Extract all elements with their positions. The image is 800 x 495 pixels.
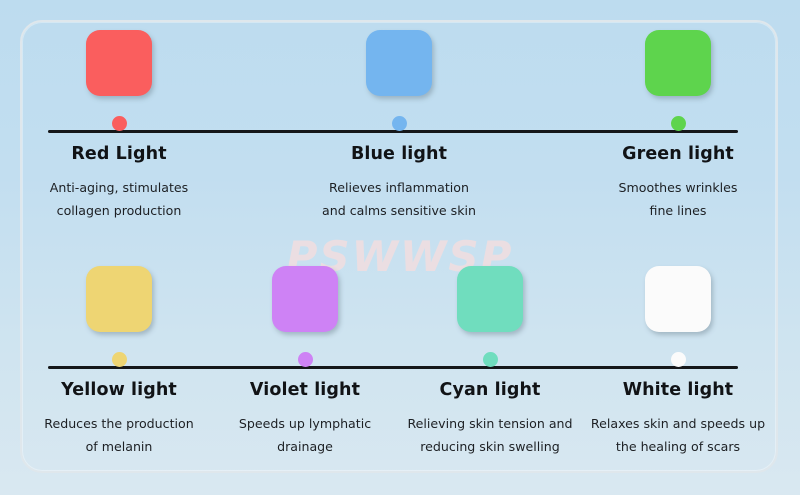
desc-line-2: the healing of scars (563, 435, 793, 458)
timeline-dot-white[interactable] (671, 352, 686, 367)
color-swatch-white (645, 266, 711, 332)
desc-line-1: Relaxes skin and speeds up (563, 412, 793, 435)
color-swatch-violet (272, 266, 338, 332)
color-swatch-yellow (86, 266, 152, 332)
light-title-blue: Blue light (284, 144, 514, 164)
desc-line-1: Smoothes wrinkles (563, 176, 793, 199)
light-title-red: Red Light (4, 144, 234, 164)
light-entry-white[interactable]: White light Relaxes skin and speeds up t… (563, 266, 793, 459)
desc-line-2: fine lines (563, 199, 793, 222)
timeline-dot-green[interactable] (671, 116, 686, 131)
desc-line-1: Anti-aging, stimulates (4, 176, 234, 199)
color-swatch-cyan (457, 266, 523, 332)
timeline-dot-red[interactable] (112, 116, 127, 131)
color-swatch-red (86, 30, 152, 96)
desc-line-2: and calms sensitive skin (284, 199, 514, 222)
light-desc-green: Smoothes wrinkles fine lines (563, 176, 793, 223)
color-swatch-blue (366, 30, 432, 96)
timeline-dot-blue[interactable] (392, 116, 407, 131)
timeline-dot-violet[interactable] (298, 352, 313, 367)
light-desc-red: Anti-aging, stimulates collagen producti… (4, 176, 234, 223)
timeline-dot-yellow[interactable] (112, 352, 127, 367)
light-desc-white: Relaxes skin and speeds up the healing o… (563, 412, 793, 459)
light-entry-green[interactable]: Green light Smoothes wrinkles fine lines (563, 30, 793, 223)
light-title-green: Green light (563, 144, 793, 164)
color-swatch-green (645, 30, 711, 96)
light-desc-blue: Relieves inflammation and calms sensitiv… (284, 176, 514, 223)
desc-line-2: collagen production (4, 199, 234, 222)
desc-line-1: Relieves inflammation (284, 176, 514, 199)
light-entry-red[interactable]: Red Light Anti-aging, stimulates collage… (4, 30, 234, 223)
light-title-white: White light (563, 380, 793, 400)
light-entry-blue[interactable]: Blue light Relieves inflammation and cal… (284, 30, 514, 223)
infographic-page: PSWWSP Red Light Anti-aging, stimulates … (0, 0, 800, 495)
timeline-dot-cyan[interactable] (483, 352, 498, 367)
